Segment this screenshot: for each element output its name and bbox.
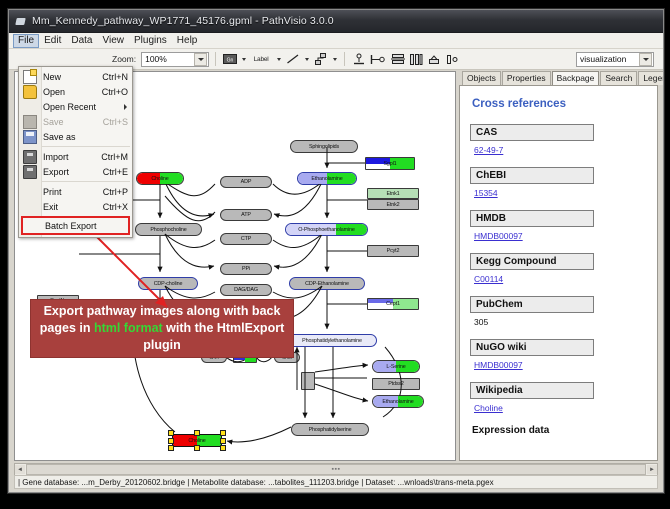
accel-new: Ctrl+N <box>102 72 128 82</box>
pathvisio-window: Mm_Kennedy_pathway_WP1771_45176.gpml - P… <box>8 9 664 493</box>
file-menu-export[interactable]: Export Ctrl+E <box>19 164 132 179</box>
scrollbar-thumb[interactable]: ▪▪▪ <box>26 464 646 475</box>
metabolite-node-o-phosphoethanolamine[interactable]: O-Phosphoethanolamine <box>285 223 368 236</box>
xref-link-nugo-wiki[interactable]: HMDB00097 <box>474 360 523 370</box>
gene-node-sgpl1[interactable]: Sgpl1 <box>365 157 415 170</box>
backpage-content: Cross references CAS 62-49-7 ChEBI 15354… <box>460 86 657 460</box>
align-rows-icon[interactable] <box>390 52 405 67</box>
gene-node-cept1[interactable]: Cept1 <box>367 298 419 310</box>
xref-value-nugo-wiki[interactable]: HMDB00097 <box>474 360 647 370</box>
align-columns-icon[interactable] <box>408 52 423 67</box>
toolbar-separator <box>215 52 216 66</box>
file-menu-new[interactable]: New Ctrl+N <box>19 69 132 84</box>
chevron-down-icon[interactable] <box>194 53 207 66</box>
annotation-text: Export pathway images along with back pa… <box>31 303 293 354</box>
selection-handle[interactable] <box>220 430 226 436</box>
xref-value-wikipedia[interactable]: Choline <box>474 403 647 413</box>
xref-link-kegg-compound[interactable]: C00114 <box>474 274 503 284</box>
accel-exit: Ctrl+X <box>103 202 128 212</box>
xref-link-cas[interactable]: 62-49-7 <box>474 145 503 155</box>
tab-legend[interactable]: Legend <box>638 71 664 85</box>
zoom-combobox[interactable]: 100% <box>141 52 209 67</box>
line-tool-icon[interactable] <box>285 52 300 67</box>
line-dropdown-icon[interactable] <box>303 52 310 67</box>
tab-properties[interactable]: Properties <box>502 71 551 85</box>
file-menu-exit[interactable]: Exit Ctrl+X <box>19 199 132 214</box>
align-middle-icon[interactable] <box>369 52 387 67</box>
xref-header-kegg-compound: Kegg Compound <box>470 253 594 270</box>
stack-icon[interactable] <box>426 52 441 67</box>
selection-handle[interactable] <box>194 445 200 451</box>
menu-bar: File Edit Data View Plugins Help <box>9 33 663 49</box>
xref-value-hmdb[interactable]: HMDB00097 <box>474 231 647 241</box>
chevron-down-icon[interactable] <box>639 53 652 66</box>
side-panel-tabs: Objects Properties Backpage Search Legen… <box>459 71 658 85</box>
menu-file[interactable]: File <box>13 34 39 48</box>
file-menu-open[interactable]: Open Ctrl+O <box>19 84 132 99</box>
metabolite-node-choline[interactable]: Choline <box>136 172 184 185</box>
accel-import: Ctrl+M <box>101 152 128 162</box>
side-panel: Objects Properties Backpage Search Legen… <box>459 71 658 461</box>
metabolite-node-ethanolamine-bottom[interactable]: Ethanolamine <box>372 395 424 408</box>
window-title: Mm_Kennedy_pathway_WP1771_45176.gpml - P… <box>32 15 334 27</box>
selection-handle[interactable] <box>168 445 174 451</box>
annotation-highlight: html format <box>94 321 163 335</box>
menu-view[interactable]: View <box>97 34 129 48</box>
status-bar: | Gene database: ...m_Derby_20120602.bri… <box>14 475 658 489</box>
save-disk-icon <box>23 115 37 129</box>
annotation-callout: Export pathway images along with back pa… <box>30 299 294 358</box>
accel-open: Ctrl+O <box>102 87 128 97</box>
tab-search[interactable]: Search <box>600 71 637 85</box>
file-menu-popup[interactable]: New Ctrl+N Open Ctrl+O Open Recent Save … <box>18 66 133 238</box>
xref-value-kegg-compound[interactable]: C00114 <box>474 274 647 284</box>
new-document-icon <box>23 70 37 84</box>
save-as-icon <box>23 130 37 144</box>
file-menu-save-as[interactable]: Save as <box>19 129 132 144</box>
tab-backpage[interactable]: Backpage <box>552 71 600 86</box>
xref-link-wikipedia[interactable]: Choline <box>474 403 503 413</box>
selection-handle[interactable] <box>194 430 200 436</box>
group-icon[interactable] <box>444 52 459 67</box>
backpage-panel[interactable]: Cross references CAS 62-49-7 ChEBI 15354… <box>459 85 658 461</box>
datanode-dropdown-icon[interactable] <box>240 52 247 67</box>
selection-handle[interactable] <box>168 430 174 436</box>
label-tool-icon[interactable]: Label <box>250 52 272 67</box>
xref-link-chebi[interactable]: 15354 <box>474 188 498 198</box>
xref-value-pubchem: 305 <box>474 317 647 327</box>
xref-header-nugo-wiki: NuGO wiki <box>470 339 594 356</box>
svg-text:Gn: Gn <box>226 58 233 64</box>
xref-header-hmdb: HMDB <box>470 210 594 227</box>
align-top-icon[interactable] <box>351 52 366 67</box>
datanode-tool-icon[interactable]: Gn <box>222 52 237 67</box>
annotation-part2: with the HtmlExport plugin <box>143 321 284 352</box>
xref-header-cas: CAS <box>470 124 594 141</box>
zoom-value: 100% <box>145 54 194 64</box>
menu-plugins[interactable]: Plugins <box>129 34 172 48</box>
menu-edit[interactable]: Edit <box>39 34 66 48</box>
scroll-left-icon[interactable]: ◄ <box>15 465 25 474</box>
status-text: | Gene database: ...m_Derby_20120602.bri… <box>18 478 494 487</box>
pathvisio-icon <box>15 15 27 27</box>
metabolite-node-ethanolamine-top[interactable]: Ethanolamine <box>297 172 357 185</box>
open-folder-icon <box>23 85 37 99</box>
menu-separator <box>42 146 130 147</box>
metabolite-node-l-serine[interactable]: L-Serine <box>372 360 420 373</box>
title-bar: Mm_Kennedy_pathway_WP1771_45176.gpml - P… <box>9 10 663 33</box>
interaction-tool-icon[interactable] <box>313 52 328 67</box>
xref-link-hmdb[interactable]: HMDB00097 <box>474 231 523 241</box>
import-icon <box>23 150 37 164</box>
xref-header-wikipedia: Wikipedia <box>470 382 594 399</box>
selection-handle[interactable] <box>168 438 174 444</box>
xref-value-chebi[interactable]: 15354 <box>474 188 647 198</box>
file-menu-print[interactable]: Print Ctrl+P <box>19 184 132 199</box>
file-menu-import[interactable]: Import Ctrl+M <box>19 149 132 164</box>
selection-handle[interactable] <box>220 438 226 444</box>
label-dropdown-icon[interactable] <box>275 52 282 67</box>
toolbar-separator <box>344 52 345 66</box>
accel-print: Ctrl+P <box>103 187 128 197</box>
file-menu-save: Save Ctrl+S <box>19 114 132 129</box>
visualization-value: visualization <box>580 54 639 64</box>
xref-header-chebi: ChEBI <box>470 167 594 184</box>
tab-objects[interactable]: Objects <box>462 71 501 85</box>
menu-help[interactable]: Help <box>172 34 203 48</box>
file-menu-open-recent[interactable]: Open Recent <box>19 99 132 114</box>
interaction-dropdown-icon[interactable] <box>331 52 338 67</box>
visualization-combobox[interactable]: visualization <box>576 52 654 67</box>
cross-references-heading: Cross references <box>472 98 647 110</box>
submenu-chevron-icon <box>124 104 127 110</box>
accel-export: Ctrl+E <box>103 167 128 177</box>
accel-save: Ctrl+S <box>103 117 128 127</box>
menu-separator <box>42 181 130 182</box>
zoom-label: Zoom: <box>112 54 136 64</box>
file-menu-batch-export[interactable]: Batch Export <box>21 216 130 235</box>
selection-handle[interactable] <box>220 445 226 451</box>
export-icon <box>23 165 37 179</box>
menu-data[interactable]: Data <box>66 34 97 48</box>
expression-data-heading: Expression data <box>472 425 647 436</box>
scroll-right-icon[interactable]: ► <box>647 465 657 474</box>
xref-value-cas[interactable]: 62-49-7 <box>474 145 647 155</box>
xref-header-pubchem: PubChem <box>470 296 594 313</box>
